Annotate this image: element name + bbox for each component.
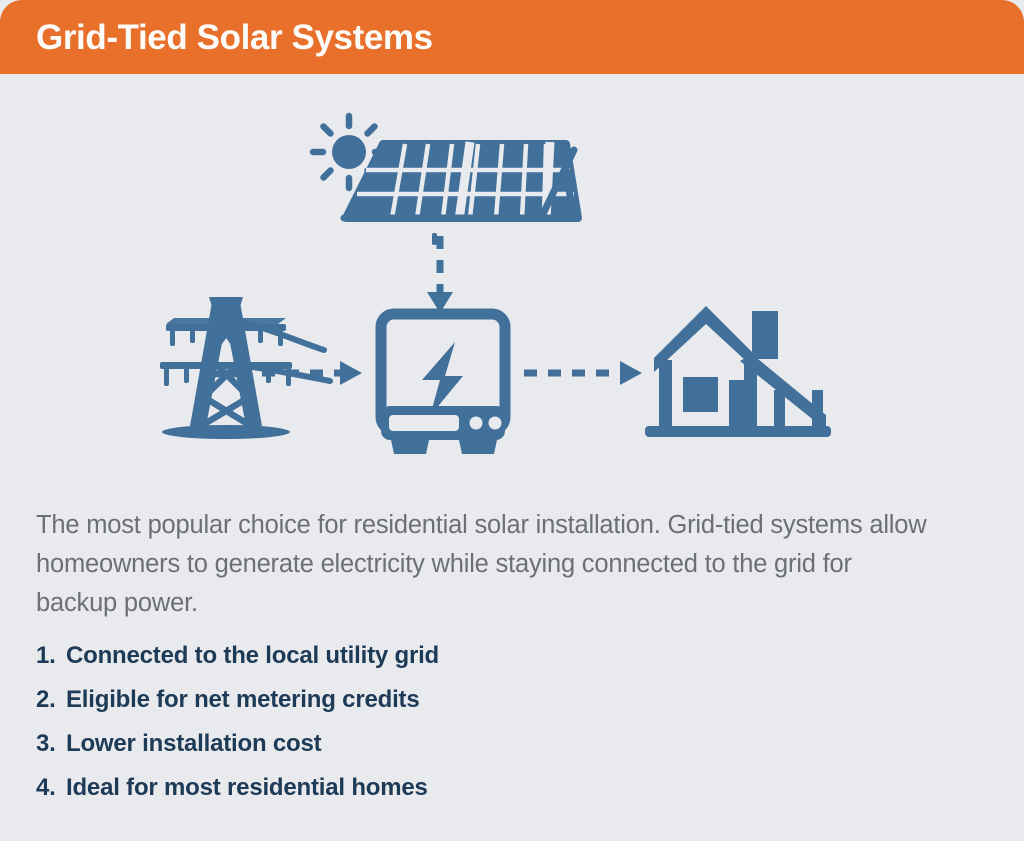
list-item-number: 3. — [36, 730, 66, 758]
page-title: Grid-Tied Solar Systems — [36, 20, 433, 55]
list-item-label: Connected to the local utility grid — [66, 642, 736, 670]
arrow-panel-to-inverter — [427, 236, 453, 313]
list-item: 2. Eligible for net metering credits — [36, 686, 736, 730]
feature-list: 1. Connected to the local utility grid 2… — [36, 642, 736, 818]
description-paragraph: The most popular choice for residential … — [36, 506, 931, 623]
list-item-number: 1. — [36, 642, 66, 670]
list-item: 3. Lower installation cost — [36, 730, 736, 774]
system-diagram — [0, 74, 1024, 494]
house-door — [729, 380, 754, 428]
house-window — [683, 377, 718, 412]
inverter-icon — [381, 314, 505, 454]
list-item: 4. Ideal for most residential homes — [36, 774, 736, 818]
lightning-bolt-icon — [422, 342, 463, 416]
list-item-number: 2. — [36, 686, 66, 714]
power-tower-icon — [160, 297, 330, 439]
list-item: 1. Connected to the local utility grid — [36, 642, 736, 686]
house-icon — [645, 306, 831, 437]
solar-panel-icon — [313, 116, 578, 245]
list-item-label: Ideal for most residential homes — [66, 774, 736, 802]
list-item-number: 4. — [36, 774, 66, 802]
infographic-card: Grid-Tied Solar Systems — [0, 0, 1024, 841]
list-item-label: Eligible for net metering credits — [66, 686, 736, 714]
arrow-inverter-to-house — [524, 361, 642, 385]
card-header: Grid-Tied Solar Systems — [0, 0, 1024, 74]
list-item-label: Lower installation cost — [66, 730, 736, 758]
